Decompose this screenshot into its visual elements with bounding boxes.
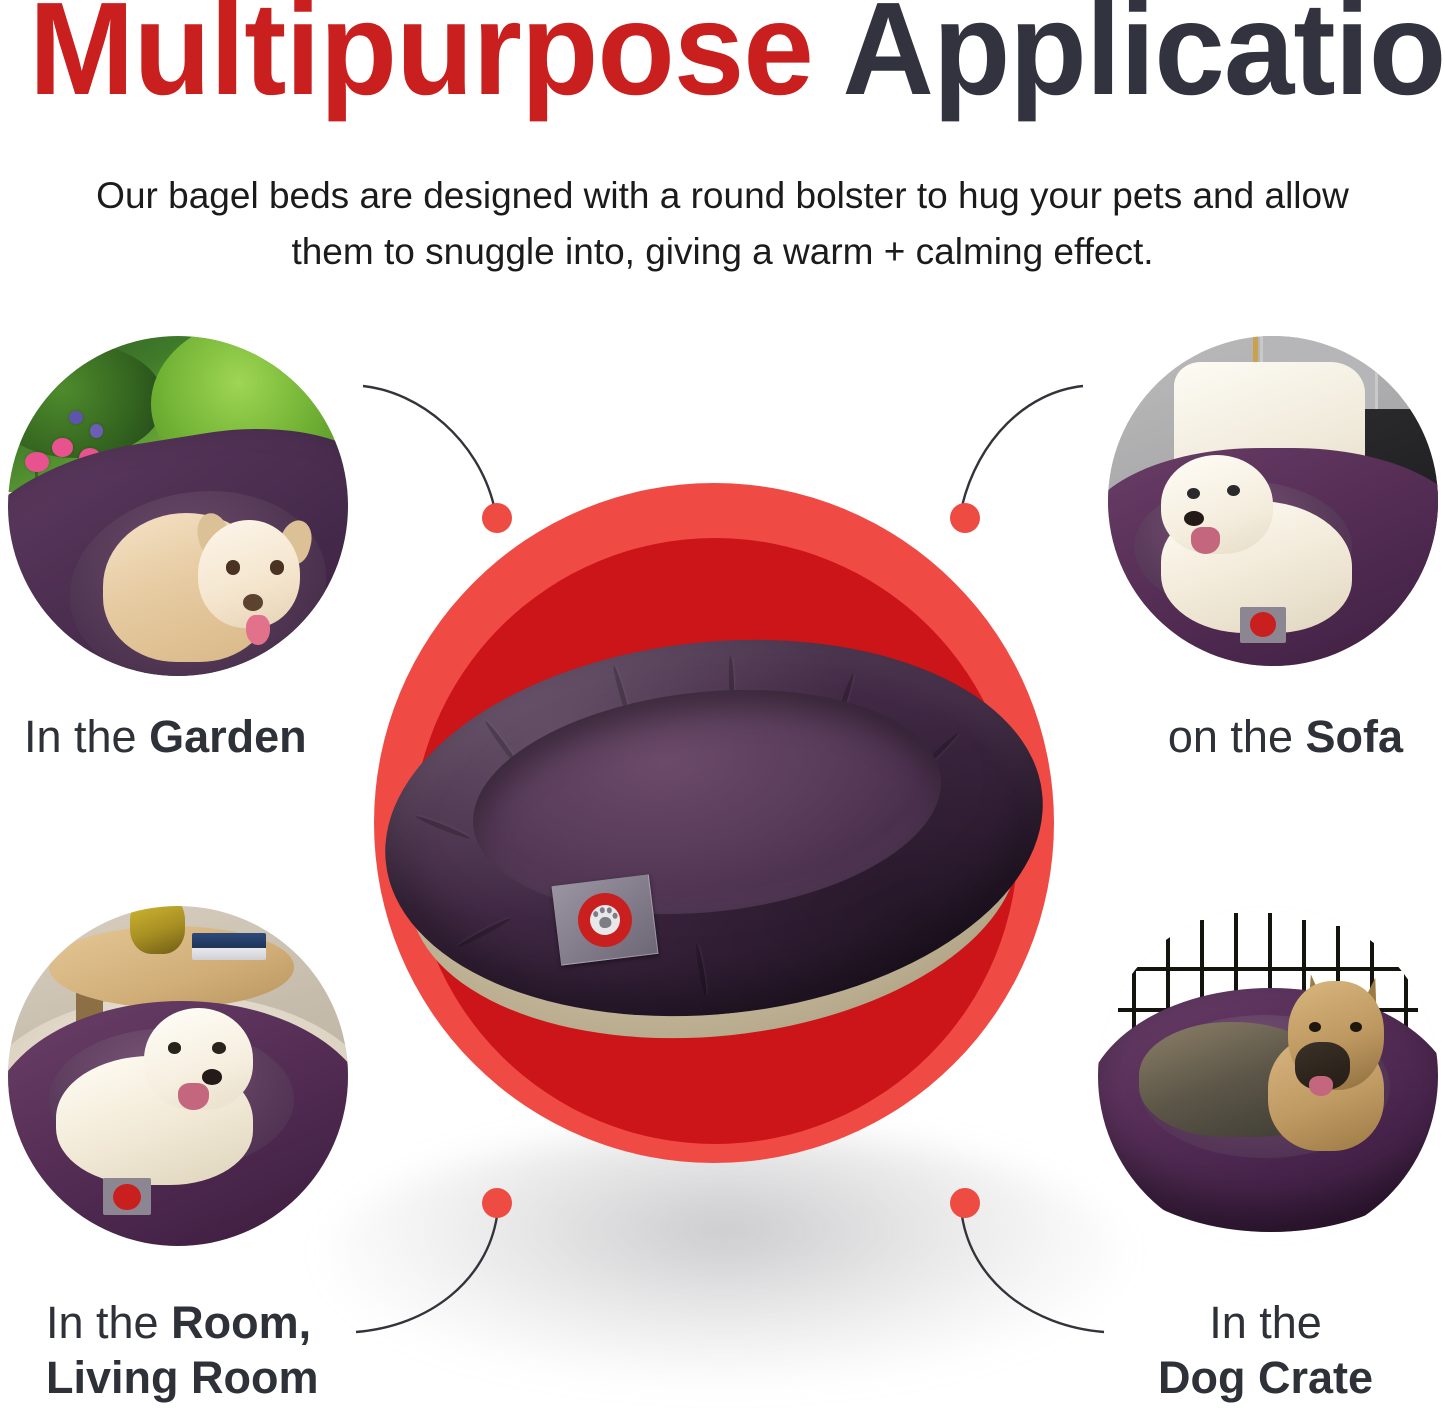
- caption-living-room-prefix: In the: [46, 1297, 171, 1348]
- connector-arc-bottom-right: [962, 1216, 1104, 1332]
- scene-photo-dog-crate: [1098, 906, 1438, 1246]
- hero-product-image: [384, 630, 1044, 1070]
- connector-arc-bottom-left: [356, 1216, 497, 1332]
- caption-living-room-line2: Living Room: [46, 1352, 318, 1403]
- infographic-page: Multipurpose Application Our bagel beds …: [0, 0, 1445, 1417]
- connector-arc-top-left: [363, 386, 494, 506]
- caption-garden-prefix: In the: [24, 711, 149, 762]
- page-title: Multipurpose Application: [29, 0, 1416, 117]
- caption-sofa-prefix: on the: [1168, 711, 1306, 762]
- connector-dot-top-right: [950, 503, 980, 533]
- caption-living-room: In the Room, Living Room: [46, 1296, 318, 1406]
- connector-dot-bottom-right: [950, 1188, 980, 1218]
- brand-tag-circle: [575, 890, 635, 950]
- paw-print-icon: [588, 903, 621, 936]
- bolster-seam: [457, 916, 512, 949]
- brand-tag: [551, 874, 658, 965]
- page-title-word-2: Application: [842, 0, 1445, 122]
- caption-garden: In the Garden: [24, 710, 307, 765]
- page-subtitle: Our bagel beds are designed with a round…: [73, 168, 1373, 280]
- scene-photo-living-room: [8, 906, 348, 1246]
- connector-dot-bottom-left: [482, 1188, 512, 1218]
- caption-dog-crate: In the Dog Crate: [1158, 1296, 1373, 1406]
- caption-dog-crate-line2: Dog Crate: [1158, 1352, 1373, 1403]
- scene-photo-sofa: [1108, 336, 1438, 666]
- connector-dot-top-left: [482, 503, 512, 533]
- scene-photo-garden: [8, 336, 348, 676]
- caption-garden-bold: Garden: [149, 711, 307, 762]
- hero-ground-shadow: [330, 1130, 1120, 1380]
- bolster-seam: [415, 814, 471, 840]
- caption-sofa-bold: Sofa: [1305, 711, 1403, 762]
- page-title-word-1: Multipurpose: [29, 0, 813, 122]
- caption-living-room-bold: Room,: [171, 1297, 311, 1348]
- connector-arc-top-right: [962, 386, 1083, 506]
- caption-dog-crate-prefix: In the: [1209, 1297, 1322, 1348]
- bolster-seam: [694, 944, 708, 996]
- caption-sofa: on the Sofa: [1168, 710, 1403, 765]
